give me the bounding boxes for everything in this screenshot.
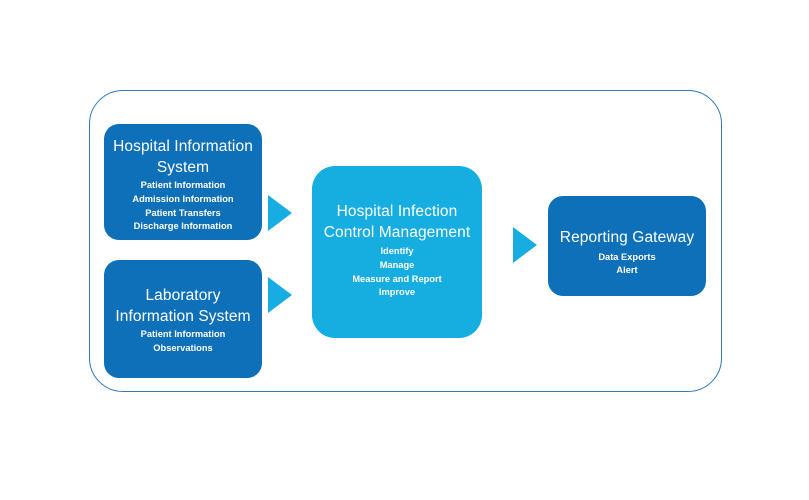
- node-item: Patient Transfers: [132, 207, 233, 221]
- node-item: Observations: [141, 342, 226, 356]
- node-laboratory-information-system[interactable]: Laboratory Information System Patient In…: [104, 260, 262, 378]
- node-item: Patient Information: [141, 328, 226, 342]
- node-title: Hospital Information System: [113, 137, 253, 178]
- arrow-right-icon-his-to-hicm: [268, 195, 292, 231]
- node-reporting-gateway[interactable]: Reporting Gateway Data Exports Alert: [548, 196, 706, 296]
- node-item-list: Patient Information Admission Informatio…: [132, 179, 233, 234]
- node-item-list: Data Exports Alert: [598, 251, 655, 278]
- node-hospital-information-system[interactable]: Hospital Information System Patient Info…: [104, 124, 262, 240]
- node-title: Reporting Gateway: [560, 228, 694, 249]
- node-item: Patient Information: [132, 179, 233, 193]
- node-item: Alert: [598, 264, 655, 278]
- node-item: Data Exports: [598, 251, 655, 265]
- node-item: Improve: [352, 286, 441, 300]
- node-item: Identify: [352, 245, 441, 259]
- arrow-right-icon-hicm-to-gateway: [513, 227, 537, 263]
- node-item-list: Patient Information Observations: [141, 328, 226, 355]
- node-item-list: Identify Manage Measure and Report Impro…: [352, 245, 441, 300]
- node-title: Laboratory Information System: [115, 286, 250, 327]
- node-hospital-infection-control-management[interactable]: Hospital Infection Control Management Id…: [312, 166, 482, 338]
- diagram-canvas: Hospital Information System Patient Info…: [0, 0, 809, 500]
- node-item: Discharge Information: [132, 220, 233, 234]
- node-item: Measure and Report: [352, 273, 441, 287]
- node-item: Admission Information: [132, 193, 233, 207]
- node-item: Manage: [352, 259, 441, 273]
- node-title: Hospital Infection Control Management: [324, 202, 471, 243]
- arrow-right-icon-lis-to-hicm: [268, 277, 292, 313]
